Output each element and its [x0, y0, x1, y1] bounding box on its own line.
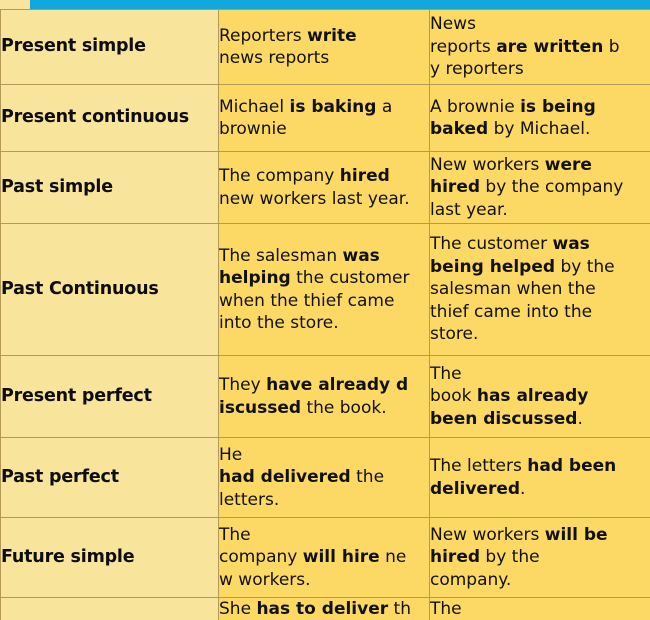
- sentence-text: Michael: [219, 97, 290, 117]
- active-sentence-cell: They have already discussed the book.: [219, 356, 430, 438]
- active-sentence-cell: Michael is baking abrownie: [219, 85, 430, 152]
- tense-name-cell: Present perfect: [1, 356, 219, 438]
- passive-sentence-cell: Newsreports are written by reporters: [430, 10, 650, 85]
- sentence-text: Newsreports: [430, 14, 496, 56]
- tense-name-cell: Future simple: [1, 518, 219, 598]
- verb-phrase: are written: [496, 37, 603, 57]
- sentence-text: by Michael.: [488, 119, 590, 139]
- sentence-text: Reporters: [219, 26, 307, 46]
- sentence-text: the book.: [301, 398, 387, 418]
- passive-sentence-cell: New workers will behired by thecompany.: [430, 518, 650, 598]
- passive-sentence-cell: The letters had beendelivered.: [430, 438, 650, 518]
- sentence-text: A brownie: [430, 97, 520, 117]
- sentence-text: Thecompany: [219, 525, 303, 567]
- verb-phrase: is baking: [290, 97, 377, 117]
- active-sentence-cell: Reporters writenews reports: [219, 10, 430, 85]
- active-sentence-cell: The company hirednew workers last year.: [219, 152, 430, 224]
- sentence-text: The salesman: [219, 246, 343, 266]
- sentence-text: The company: [219, 166, 340, 186]
- sentence-text: Thebook: [430, 364, 477, 406]
- sentence-text: New workers: [430, 525, 545, 545]
- table-row: She has to deliver thThe: [1, 598, 650, 620]
- tense-name-cell: [1, 598, 219, 620]
- table-row: Present simpleReporters writenews report…: [1, 10, 650, 85]
- verb-phrase: has to deliver: [256, 599, 388, 619]
- active-sentence-cell: Thecompany will hire new workers.: [219, 518, 430, 598]
- table-row: Past ContinuousThe salesman washelping t…: [1, 224, 650, 356]
- sentence-text: .: [577, 409, 582, 429]
- table-row: Past simpleThe company hirednew workers …: [1, 152, 650, 224]
- sentence-text: news reports: [219, 48, 329, 68]
- active-sentence-cell: She has to deliver th: [219, 598, 430, 620]
- sentence-text: The customer: [430, 234, 552, 254]
- sentence-text: The: [430, 599, 462, 619]
- tense-name-cell: Past simple: [1, 152, 219, 224]
- sentence-text: New workers: [430, 155, 545, 175]
- sentence-text: He: [219, 445, 242, 465]
- tense-name-cell: Past perfect: [1, 438, 219, 518]
- active-sentence-cell: The salesman washelping the customerwhen…: [219, 224, 430, 356]
- verb-phrase: will hire: [303, 547, 380, 567]
- sentence-text: .: [520, 479, 525, 499]
- passive-sentence-cell: The customer wasbeing helped by thesales…: [430, 224, 650, 356]
- sentence-text: The letters: [430, 456, 527, 476]
- tense-name-cell: Past Continuous: [1, 224, 219, 356]
- tense-name-cell: Present continuous: [1, 85, 219, 152]
- table-body: Present simpleReporters writenews report…: [1, 10, 650, 620]
- top-bar-left-cap: [0, 0, 30, 9]
- table-row: Present perfectThey have already discuss…: [1, 356, 650, 438]
- table-row: Past perfectHehad delivered theletters.T…: [1, 438, 650, 518]
- table-row: Future simpleThecompany will hire new wo…: [1, 518, 650, 598]
- passive-sentence-cell: The: [430, 598, 650, 620]
- active-passive-table: Present simpleReporters writenews report…: [0, 9, 650, 620]
- tense-table-page: Present simpleReporters writenews report…: [0, 0, 650, 620]
- tense-name-cell: Present simple: [1, 10, 219, 85]
- sentence-text: She: [219, 599, 256, 619]
- sentence-text: th: [388, 599, 411, 619]
- top-accent-bar: [0, 0, 650, 9]
- passive-sentence-cell: Thebook has alreadybeen discussed.: [430, 356, 650, 438]
- verb-phrase: had delivered: [219, 467, 351, 487]
- passive-sentence-cell: New workers werehired by the companylast…: [430, 152, 650, 224]
- active-sentence-cell: Hehad delivered theletters.: [219, 438, 430, 518]
- sentence-text: new workers last year.: [219, 189, 410, 209]
- sentence-text: They: [219, 375, 266, 395]
- verb-phrase: hired: [340, 166, 390, 186]
- verb-phrase: write: [307, 26, 357, 46]
- passive-sentence-cell: A brownie is beingbaked by Michael.: [430, 85, 650, 152]
- table-row: Present continuousMichael is baking abro…: [1, 85, 650, 152]
